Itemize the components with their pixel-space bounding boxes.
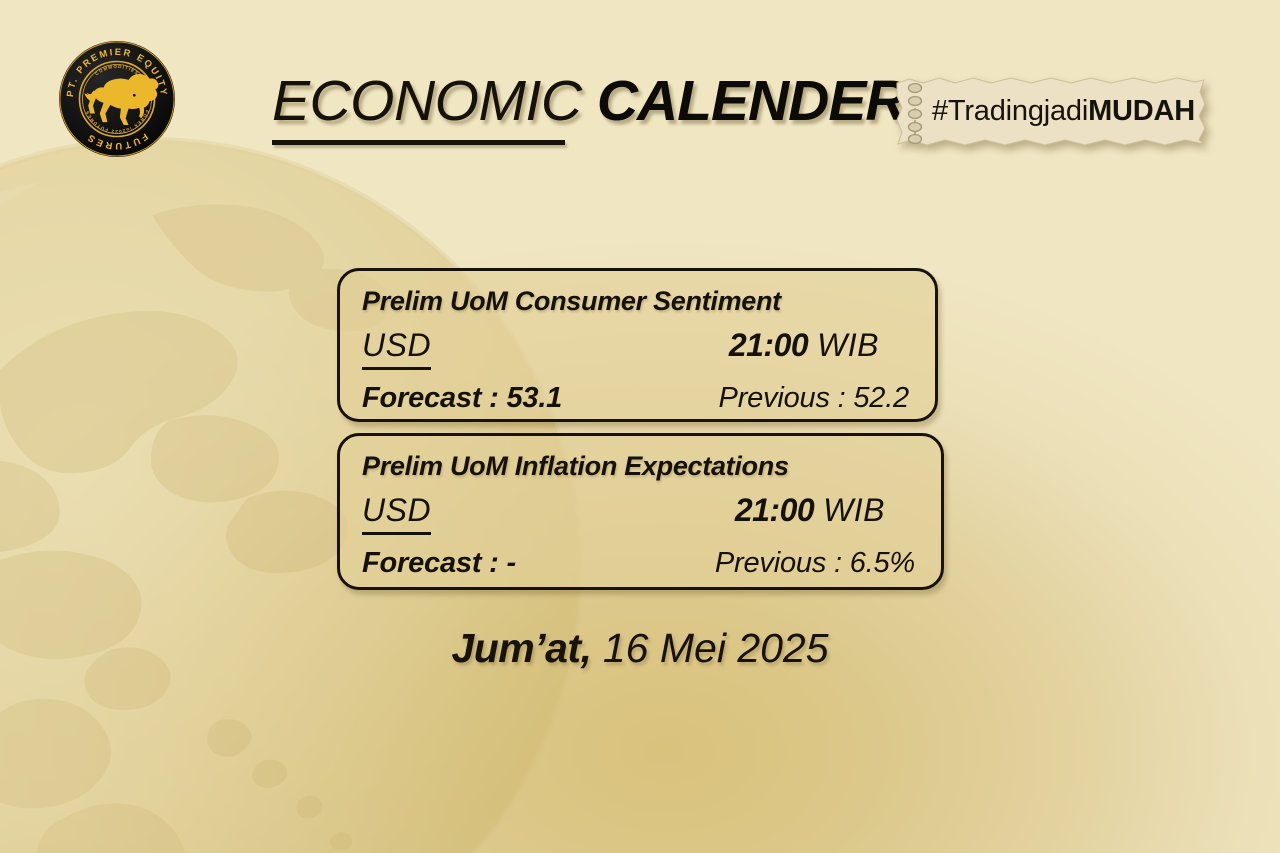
event-forecast: Forecast : 53.1 xyxy=(362,382,562,415)
event-previous: Previous : 6.5% xyxy=(715,547,915,580)
event-currency: USD xyxy=(362,327,431,370)
company-logo: PT. PREMIER EQUITY FUTURES COMMODITIES F… xyxy=(57,39,177,159)
title-underline xyxy=(272,140,565,145)
event-time: 21:00 xyxy=(729,327,808,363)
date-day-name: Jum’at, xyxy=(451,625,591,671)
event-timezone: WIB xyxy=(817,327,879,363)
event-card-list: Prelim UoM Consumer Sentiment USD 21:00 … xyxy=(337,268,957,590)
event-card[interactable]: Prelim UoM Inflation Expectations USD 21… xyxy=(337,433,944,590)
event-title: Prelim UoM Consumer Sentiment xyxy=(362,286,913,317)
date-rest: 16 Mei 2025 xyxy=(591,625,828,671)
event-date: Jum’at, 16 Mei 2025 xyxy=(0,625,1280,672)
hashtag-suffix: MUDAH xyxy=(1088,95,1195,128)
event-forecast: Forecast : - xyxy=(362,547,516,580)
event-previous: Previous : 52.2 xyxy=(719,382,909,415)
event-time: 21:00 xyxy=(735,492,814,528)
event-timezone: WIB xyxy=(823,492,885,528)
event-currency: USD xyxy=(362,492,431,535)
event-title: Prelim UoM Inflation Expectations xyxy=(362,451,919,482)
event-time-group: 21:00 WIB xyxy=(729,327,879,364)
page-title: ECONOMIC CALENDER xyxy=(272,68,872,164)
event-time-group: 21:00 WIB xyxy=(735,492,885,529)
hashtag-prefix: #Tradingjadi xyxy=(932,95,1088,128)
event-card[interactable]: Prelim UoM Consumer Sentiment USD 21:00 … xyxy=(337,268,938,422)
hashtag-label: #TradingjadiMUDAH xyxy=(933,74,1194,148)
economic-calendar-poster: PT. PREMIER EQUITY FUTURES COMMODITIES F… xyxy=(0,0,1280,853)
title-word-economic: ECONOMIC xyxy=(272,69,582,133)
title-word-calender: CALENDER xyxy=(597,69,906,133)
hashtag-note-badge: #TradingjadiMUDAH xyxy=(893,74,1208,148)
